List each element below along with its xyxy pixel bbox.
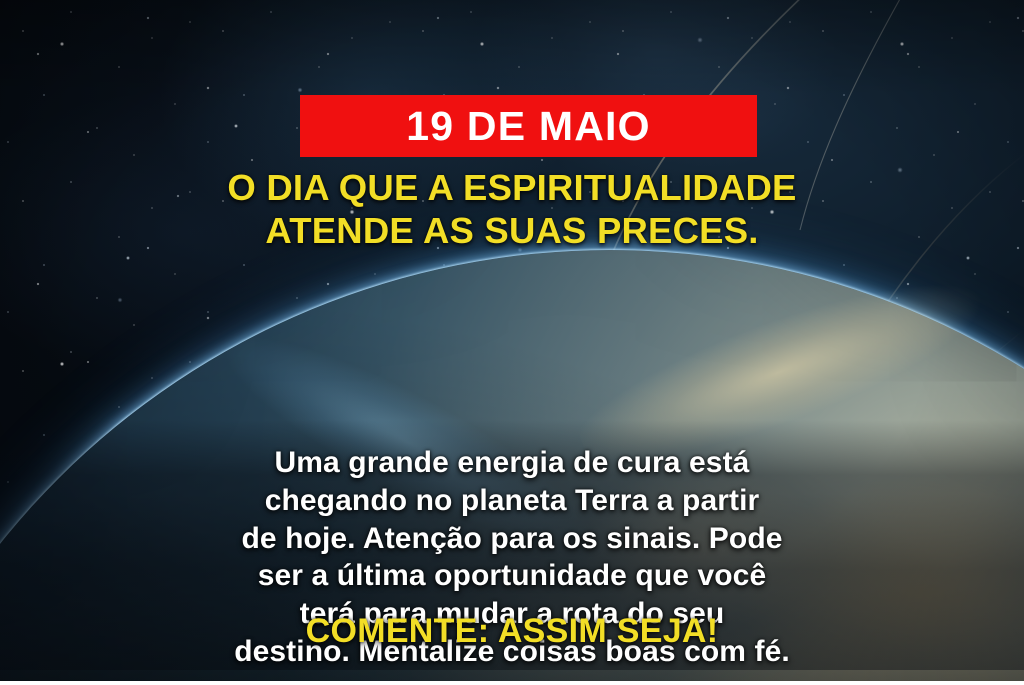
- call-to-action-text: COMENTE: ASSIM SEJA!: [0, 613, 1024, 650]
- body-line-2: chegando no planeta Terra a partir: [0, 482, 1024, 520]
- body-line-4: ser a última oportunidade que você: [0, 557, 1024, 595]
- body-line-1: Uma grande energia de cura está: [0, 444, 1024, 482]
- headline-line-2: ATENDE AS SUAS PRECES.: [0, 209, 1024, 252]
- poster-content: 19 DE MAIO O DIA QUE A ESPIRITUALIDADE A…: [0, 0, 1024, 685]
- date-banner-text: 19 DE MAIO: [406, 106, 650, 147]
- bottom-white-strip: [0, 681, 1024, 685]
- headline-line-1: O DIA QUE A ESPIRITUALIDADE: [0, 166, 1024, 209]
- poster-canvas: 19 DE MAIO O DIA QUE A ESPIRITUALIDADE A…: [0, 0, 1024, 685]
- headline: O DIA QUE A ESPIRITUALIDADE ATENDE AS SU…: [0, 166, 1024, 252]
- body-line-3: de hoje. Atenção para os sinais. Pode: [0, 520, 1024, 558]
- date-banner: 19 DE MAIO: [300, 95, 757, 157]
- call-to-action-label: COMENTE: ASSIM SEJA!: [306, 612, 719, 650]
